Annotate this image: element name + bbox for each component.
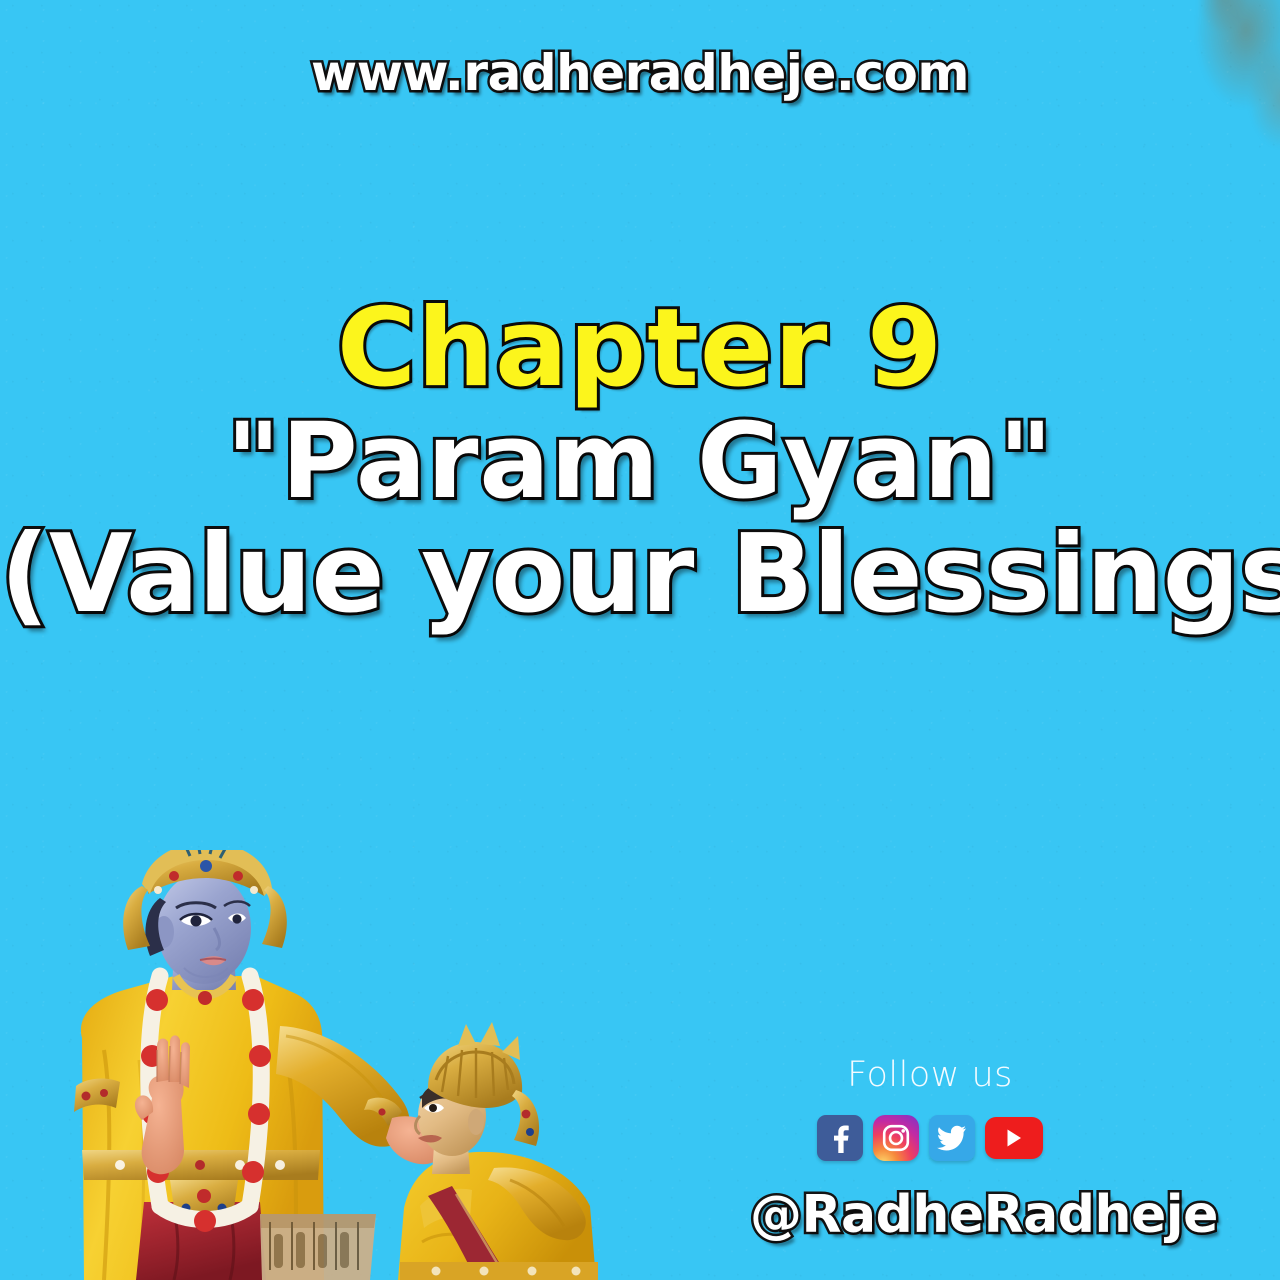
twitter-icon[interactable] [929, 1115, 975, 1161]
chapter-subtitle: (Value your Blessings) [0, 512, 1280, 637]
chapter-heading: Chapter 9 [0, 286, 1280, 411]
facebook-icon[interactable] [817, 1115, 863, 1161]
follow-us-block: Follow us [750, 1058, 1110, 1161]
chapter-title: "Param Gyan" [0, 400, 1280, 522]
youtube-icon[interactable] [985, 1117, 1043, 1159]
follow-us-label: Follow us [750, 1058, 1110, 1093]
krishna-arjuna-illustration [24, 850, 624, 1280]
poster-canvas: www.radheradheje.com Chapter 9 "Param Gy… [0, 0, 1280, 1280]
site-url-text: www.radheradheje.com [0, 44, 1280, 102]
corner-texture-wisp [1080, 0, 1280, 210]
instagram-icon[interactable] [873, 1115, 919, 1161]
social-icons-row [750, 1115, 1110, 1161]
social-handle: @RadheRadheje [750, 1185, 1110, 1245]
